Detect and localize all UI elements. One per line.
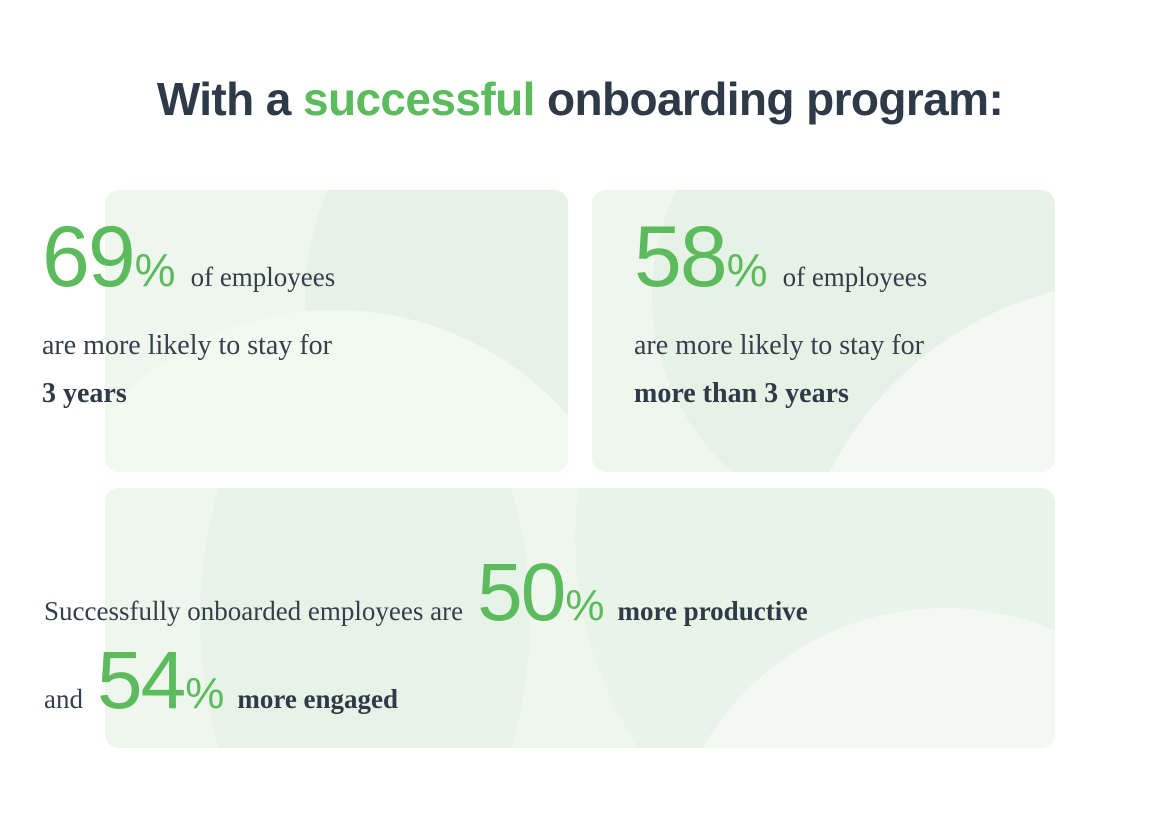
stat-tail-more-engaged: more engaged	[237, 684, 398, 715]
stat-line2-retention: are more likely to stay for	[42, 330, 332, 362]
stat-headline-54: and 54 % more engaged	[44, 640, 398, 722]
stat-lead-and: and	[44, 684, 83, 715]
stat-number-58: 58	[634, 214, 726, 300]
stat-line2-retention: are more likely to stay for	[634, 330, 924, 362]
stat-line3-duration: more than 3 years	[634, 378, 849, 410]
stat-number-50: 50	[477, 552, 564, 634]
decorative-circle-icon	[792, 280, 1055, 472]
stat-headline-50: Successfully onboarded employees are 50 …	[44, 552, 808, 634]
stat-caption-employees: of employees	[783, 262, 928, 293]
stat-headline-69: 69 % of employees	[42, 214, 335, 300]
percent-symbol-icon: %	[727, 247, 767, 293]
stat-line3-duration: 3 years	[42, 378, 127, 410]
decorative-circle-icon	[305, 190, 568, 472]
stat-caption-employees: of employees	[191, 262, 336, 293]
percent-symbol-icon: %	[135, 247, 175, 293]
percent-symbol-icon: %	[185, 672, 223, 716]
stat-headline-58: 58 % of employees	[634, 214, 927, 300]
title-text-after: onboarding program:	[535, 73, 1003, 125]
title-highlight-word: successful	[303, 73, 535, 125]
infographic-canvas: With a successful onboarding program: 69…	[0, 0, 1160, 834]
percent-symbol-icon: %	[565, 584, 603, 628]
stat-number-69: 69	[42, 214, 134, 300]
title-text-before: With a	[157, 73, 303, 125]
stat-lead-successfully-onboarded: Successfully onboarded employees are	[44, 596, 463, 627]
page-title: With a successful onboarding program:	[0, 72, 1160, 126]
stat-number-54: 54	[97, 640, 184, 722]
stat-tail-more-productive: more productive	[617, 596, 807, 627]
